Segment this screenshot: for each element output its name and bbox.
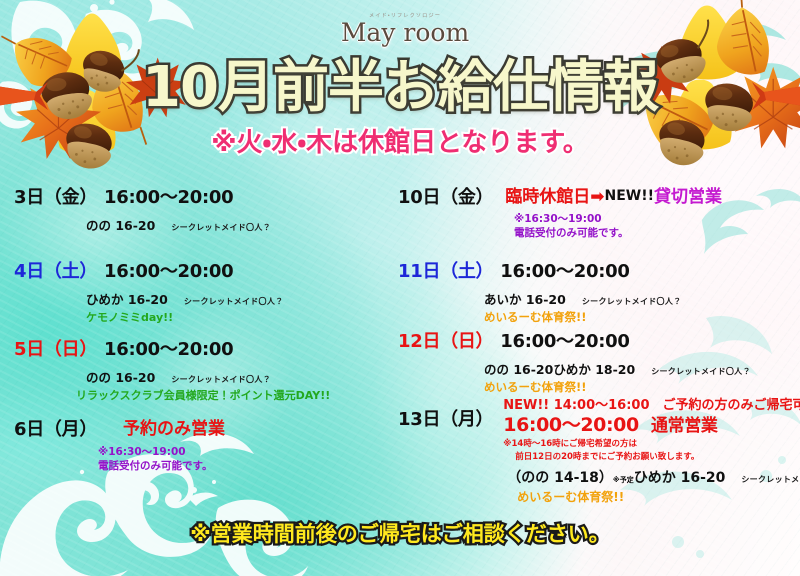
arrow-icon: ➡ (590, 188, 604, 208)
secret-maid-note: シークレットメイド〇人？ (171, 223, 271, 232)
date-label: 13日（月） (398, 410, 493, 431)
maid-roster-1: のの 16-20 (484, 362, 553, 377)
phone-only-note: 電話受付のみ可能です。 (514, 226, 794, 240)
maid-roster: のの 16-20 (86, 218, 155, 233)
early-return-note-2: 前日12日の20時までにご予約お願い致します。 (515, 451, 800, 463)
secret-maid-note: シークレットメイド〇人？ (171, 375, 271, 384)
hours-label: 16:00〜20:00 (500, 262, 629, 283)
event-note: めいるーむ体育祭!! (517, 490, 800, 505)
private-booking-label: 貸切営業 (654, 188, 722, 208)
footer-notice: ※営業時間前後のご帰宅はご相談ください。 (0, 524, 800, 545)
closed-days-notice: ※火・水・木は休館日となります。 (0, 130, 800, 156)
secret-maid-note: シークレットメイド〇人？ (651, 367, 751, 376)
maid-roster-1: （のの 14-18） (507, 470, 613, 486)
date-label: 11日（土） (398, 262, 493, 283)
schedule-entry-day11: 11日（土） 16:00〜20:00 あいか 16-20シークレットメイド〇人？… (398, 262, 794, 332)
page-title: 10月前半お給仕情報 (0, 60, 800, 116)
normal-business-label: 通常営業 (651, 416, 717, 436)
hours-label: 16:00〜20:00 (104, 262, 233, 283)
secret-maid-note: シークレットメイド〇人？ (184, 297, 284, 306)
phone-hours-note: ※16:30〜19:00 (514, 212, 794, 226)
schedule-entry-day12: 12日（日） 16:00〜20:00 のの 16-20ひめか 18-20シークレ… (398, 332, 794, 398)
secret-maid-note: シークレットメイド〇人？ (582, 297, 682, 306)
maid-roster: あいか 16-20 (484, 292, 566, 307)
date-label: 10日（金） (398, 188, 493, 209)
brand-name: May room (300, 20, 510, 45)
date-label: 5日（日） (14, 340, 97, 361)
event-note: めいるーむ体育祭!! (484, 310, 794, 324)
new-badge: NEW!! (605, 188, 655, 204)
schedule-entry-day5: 5日（日） 16:00〜20:00 のの 16-20シークレットメイド〇人？ リ… (14, 340, 390, 420)
maid-roster: ひめか 16-20 (86, 292, 168, 307)
schedule-column-left: 3日（金） 16:00〜20:00 のの 16-20シークレットメイド〇人？ 4… (14, 188, 390, 473)
schedule-entry-day13: 13日（月） NEW!! 14:00〜16:00 ご予約の方のみご帰宅可能 16… (398, 398, 794, 505)
date-label: 4日（土） (14, 262, 97, 283)
tentative-note: ※予定 (613, 476, 634, 484)
secret-maid-note: シークレットメイド〇人？ (741, 475, 800, 484)
hours-label: 16:00〜20:00 (104, 340, 233, 361)
event-note: めいるーむ体育祭!! (484, 380, 794, 394)
event-note: リラックスクラブ会員様限定！ポイント還元DAY!! (76, 389, 390, 403)
phone-hours-note: ※16:30〜19:00 (98, 445, 390, 459)
poster-canvas: メイド・リフレクソロジー May room 10月前半お給仕情報 ※火・水・木は… (0, 0, 800, 576)
schedule-entry-day4: 4日（土） 16:00〜20:00 ひめか 16-20シークレットメイド〇人？ … (14, 262, 390, 340)
date-label: 6日（月） (14, 420, 97, 441)
date-label: 12日（日） (398, 332, 493, 353)
reservation-only-label: 予約のみ営業 (123, 420, 225, 440)
temporary-closure-label: 臨時休館日 (505, 188, 590, 208)
schedule-entry-day10: 10日（金） 臨時休館日➡NEW!!貸切営業 ※16:30〜19:00 電話受付… (398, 188, 794, 262)
hours-label: 16:00〜20:00 (503, 414, 639, 436)
maid-roster-2: ひめか 16-20 (634, 470, 726, 486)
event-note: ケモノミミday!! (86, 311, 390, 325)
hours-label: 16:00〜20:00 (500, 332, 629, 353)
maid-roster-2: ひめか 18-20 (553, 362, 635, 377)
maid-roster: のの 16-20 (86, 370, 155, 385)
schedule-entry-day3: 3日（金） 16:00〜20:00 のの 16-20シークレットメイド〇人？ (14, 188, 390, 262)
date-label: 3日（金） (14, 188, 97, 209)
schedule-entry-day6: 6日（月） 予約のみ営業 ※16:30〜19:00 電話受付のみ可能です。 (14, 420, 390, 473)
hours-label: 16:00〜20:00 (104, 188, 233, 209)
phone-only-note: 電話受付のみ可能です。 (98, 459, 390, 473)
early-return-note-1: ※14時〜16時にご帰宅希望の方は (503, 438, 800, 450)
new-early-hours-note: NEW!! 14:00〜16:00 ご予約の方のみご帰宅可能 (503, 398, 800, 414)
schedule-column-right: 10日（金） 臨時休館日➡NEW!!貸切営業 ※16:30〜19:00 電話受付… (398, 188, 794, 505)
